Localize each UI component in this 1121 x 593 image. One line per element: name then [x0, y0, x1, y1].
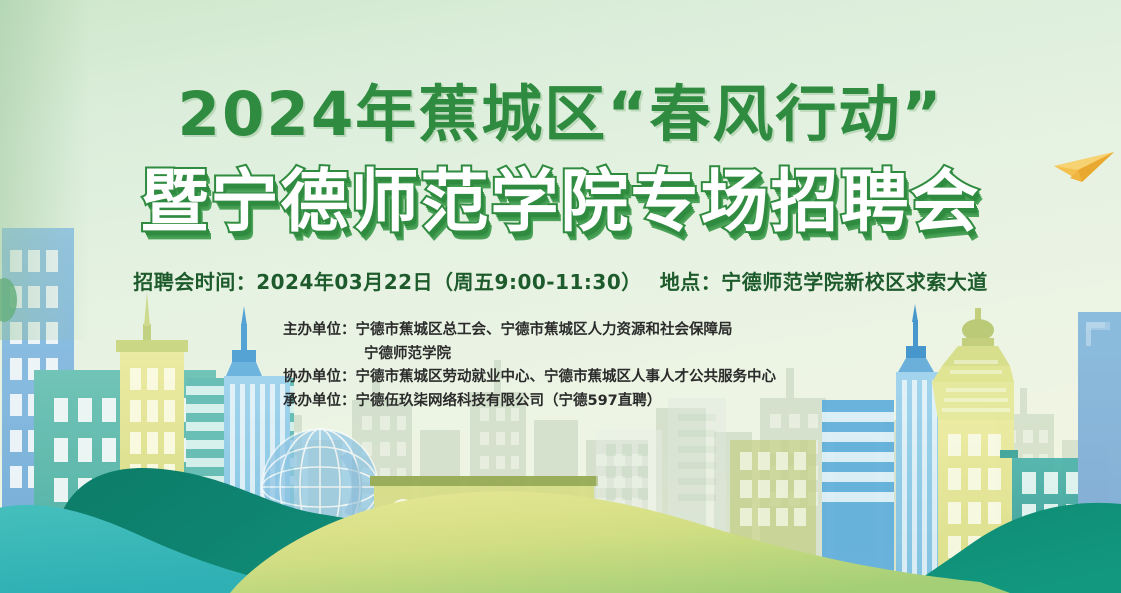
organizer-block: 主办单位：宁德市蕉城区总工会、宁德市蕉城区人力资源和社会保障局 宁德师范学院 协…	[283, 319, 776, 413]
organizer-label-cohost: 协办单位：	[283, 366, 356, 390]
paper-plane-icon	[1052, 148, 1116, 188]
organizer-row-host: 主办单位：宁德市蕉城区总工会、宁德市蕉城区人力资源和社会保障局	[283, 319, 776, 343]
poster-content: 2024年蕉城区“春风行动” 暨宁德师范学院专场招聘会 招聘会时间：2024年0…	[0, 0, 1121, 593]
place-label: 地点：	[660, 270, 722, 294]
time-label: 招聘会时间：	[133, 270, 256, 294]
organizer-value-cohost: 宁德市蕉城区劳动就业中心、宁德市蕉城区人事人才公共服务中心	[356, 369, 777, 385]
event-info-line: 招聘会时间：2024年03月22日（周五9:00-11:30）地点：宁德师范学院…	[0, 268, 1121, 296]
organizer-value-host: 宁德市蕉城区总工会、宁德市蕉城区人力资源和社会保障局	[356, 322, 733, 338]
organizer-label-undertaker: 承办单位：	[283, 390, 356, 414]
place-value: 宁德师范学院新校区求索大道	[721, 270, 988, 294]
poster-title-line-2: 暨宁德师范学院专场招聘会	[0, 164, 1121, 242]
organizer-row-cohost: 协办单位：宁德市蕉城区劳动就业中心、宁德市蕉城区人事人才公共服务中心	[283, 366, 776, 390]
recruitment-poster: 2024年蕉城区“春风行动” 暨宁德师范学院专场招聘会 招聘会时间：2024年0…	[0, 0, 1121, 593]
organizer-value-host-2: 宁德师范学院	[364, 346, 451, 362]
time-value: 2024年03月22日（周五9:00-11:30）	[256, 270, 642, 294]
organizer-row-undertaker: 承办单位：宁德伍玖柒网络科技有限公司（宁德597直聘）	[283, 390, 776, 414]
poster-title-line-1: 2024年蕉城区“春风行动”	[0, 82, 1121, 148]
organizer-row-host-2: 宁德师范学院	[283, 343, 776, 367]
organizer-label-host: 主办单位：	[283, 319, 356, 343]
organizer-value-undertaker: 宁德伍玖柒网络科技有限公司（宁德597直聘）	[356, 393, 662, 409]
